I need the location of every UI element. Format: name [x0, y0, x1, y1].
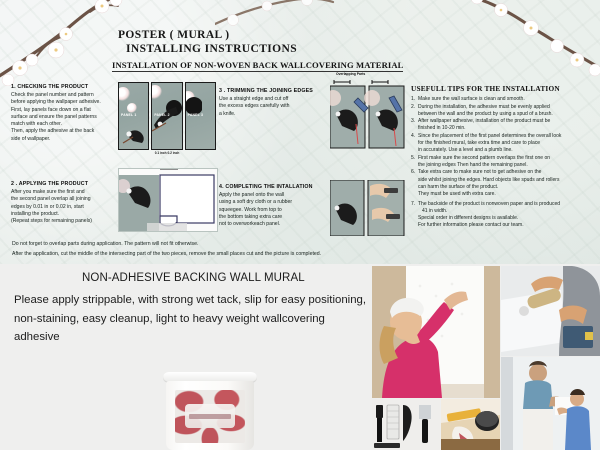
poster-subtitle: INSTALLATION OF NON-WOVEN BACK WALLCOVER…: [112, 60, 403, 72]
step-3-diagram: [330, 84, 406, 150]
step-4-body: Apply the panel onto the wallusing a sof…: [219, 192, 331, 228]
footer-note-2: After the application, cut the middle of…: [12, 249, 432, 259]
footer-notes: Do not forget to overlap parts during ap…: [12, 239, 432, 259]
tip-item: 5. First make sure the second pattern ov…: [411, 155, 591, 169]
tip-item: 2. During the installation, the adhesive…: [411, 104, 591, 118]
photo-woman-hanging-wallpaper: [372, 266, 500, 398]
photo-paste-table: [441, 399, 500, 450]
step-2-body: After you make sure the first andthe sec…: [11, 189, 115, 225]
photo-collage: [372, 266, 600, 450]
bucket-label: [175, 390, 245, 443]
footer-note-1: Do not forget to overlap parts during ap…: [12, 239, 432, 249]
overlapping-parts-label: Overlapping Parts: [336, 72, 365, 76]
panel-2-label: PANEL 2: [154, 113, 169, 117]
tip-item: 7. The backside of the product is nonwov…: [411, 201, 591, 229]
panel-1-label: PANEL 1: [121, 113, 136, 117]
instruction-sheet: POSTER ( MURAL ) INSTALLING INSTRUCTIONS…: [0, 0, 600, 264]
panel-1-illustration: PANEL 1: [118, 82, 149, 150]
photo-man-and-child: [501, 357, 600, 450]
panel-3-illustration: PANEL 3: [185, 82, 216, 150]
marketing-body: Please apply strippable, with strong wet…: [14, 291, 369, 347]
step-3-illustration-icon: [330, 84, 406, 150]
bird-illustration-icon: [121, 119, 149, 145]
photo-hands-with-roller: [501, 266, 600, 356]
step-4-diagram: [330, 180, 406, 236]
panel-2-illustration: PANEL 2: [151, 82, 182, 150]
poster-title-line2: INSTALLING INSTRUCTIONS: [126, 43, 412, 55]
step-4-block: 4. COMPLETING THE INTALLATION Apply the …: [219, 184, 331, 228]
step-1-heading: 1. CHECKING THE PRODUCT: [11, 84, 115, 90]
step-2-diagram: [118, 168, 218, 232]
tips-heading: USEFULL TIPS FOR THE INSTALLATION: [411, 84, 591, 93]
tip-item: 3. After wallpaper adhesive, installatio…: [411, 118, 591, 132]
adhesive-bucket-image: [163, 372, 257, 450]
step-4-illustration-icon: [330, 180, 406, 236]
wallpaper-instruction-poster: POSTER ( MURAL ) INSTALLING INSTRUCTIONS…: [0, 0, 600, 450]
step-2-illustration-icon: [119, 169, 217, 231]
poster-title-line1: POSTER ( MURAL ): [118, 29, 412, 41]
step-1-caption: 0.1 inch 0.2 inch: [118, 151, 216, 155]
step-3-heading: 3 . TRIMMING THE JOINING EDGES: [219, 88, 327, 94]
panel-3-label: PANEL 3: [188, 113, 203, 117]
poster-title-block: POSTER ( MURAL ) INSTALLING INSTRUCTIONS…: [112, 29, 412, 73]
step-2-block: 2 . APPLYING THE PRODUCT After you make …: [11, 181, 115, 225]
tip-item: 6. Take extra care to make sure not to g…: [411, 169, 591, 197]
marketing-title: NON-ADHESIVE BACKING WALL MURAL: [82, 272, 305, 284]
step-1-body: Check the panel number and patternbefore…: [11, 92, 115, 143]
photo-wallpaper-tools: [372, 399, 440, 450]
useful-tips-block: USEFULL TIPS FOR THE INSTALLATION 1. Mak…: [411, 84, 591, 230]
step-4-heading: 4. COMPLETING THE INTALLATION: [219, 184, 331, 190]
step-1-block: 1. CHECKING THE PRODUCT Check the panel …: [11, 84, 115, 143]
step-3-block: 3 . TRIMMING THE JOINING EDGES Use a str…: [219, 88, 327, 118]
bucket-body: [166, 381, 254, 450]
step-2-heading: 2 . APPLYING THE PRODUCT: [11, 181, 115, 187]
tip-item: 1. Make sure the wall surface is clean a…: [411, 96, 591, 103]
step-1-diagram: PANEL 1 PANEL 2 PANEL 3: [118, 82, 216, 150]
step-3-body: Use a straight edge and cut offthe exces…: [219, 96, 327, 118]
tip-item: 4. Since the placement of the first pane…: [411, 133, 591, 154]
blossom-branch-right-icon: [439, 0, 600, 78]
